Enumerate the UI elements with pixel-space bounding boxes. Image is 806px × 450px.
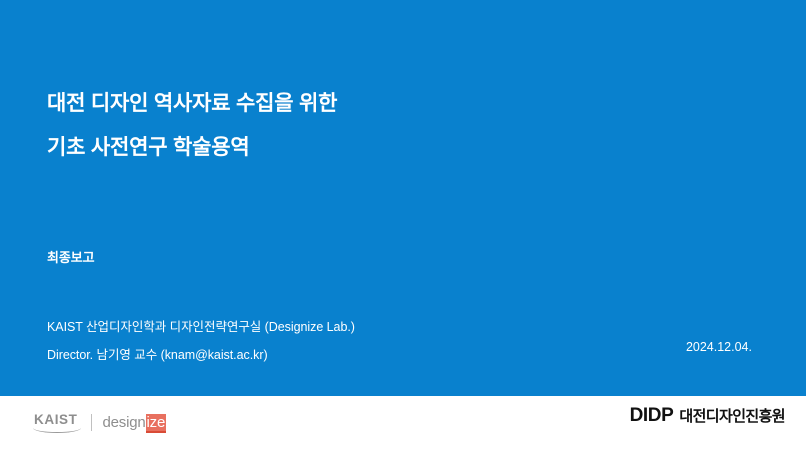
- logo-divider: [91, 414, 92, 431]
- affiliation-block: KAIST 산업디자인학과 디자인전략연구실 (Designize Lab.) …: [47, 313, 607, 369]
- page-title: 대전 디자인 역사자료 수집을 위한 기초 사전연구 학술용역: [47, 82, 687, 170]
- title-line-2: 기초 사전연구 학술용역: [47, 126, 687, 170]
- kaist-wordmark-text: KAIST: [34, 412, 78, 427]
- designize-logo: designize: [103, 414, 167, 431]
- kaist-logo: KAIST: [34, 411, 78, 433]
- footer-left-logos: KAIST designize: [34, 405, 166, 439]
- kaist-swoosh-icon: [33, 428, 81, 433]
- slide-footer: KAIST designize DIDP 대전디자인진흥원: [0, 396, 806, 450]
- didp-korean-name: 대전디자인진흥원: [679, 406, 785, 428]
- affiliation-director-line: Director. 남기영 교수 (knam@kaist.ac.kr): [47, 341, 607, 369]
- report-stage-label: 최종보고: [47, 249, 94, 267]
- presentation-slide: 대전 디자인 역사자료 수집을 위한 기초 사전연구 학술용역 최종보고 KAI…: [0, 0, 806, 450]
- footer-right-logo: DIDP 대전디자인진흥원: [630, 405, 785, 439]
- designize-highlight-text: ize: [146, 414, 167, 433]
- didp-wordmark: DIDP: [630, 405, 674, 427]
- title-line-1: 대전 디자인 역사자료 수집을 위한: [47, 82, 687, 126]
- slide-blue-background: 대전 디자인 역사자료 수집을 위한 기초 사전연구 학술용역 최종보고 KAI…: [0, 0, 806, 396]
- designize-prefix-text: design: [103, 414, 146, 431]
- affiliation-lab-line: KAIST 산업디자인학과 디자인전략연구실 (Designize Lab.): [47, 313, 607, 341]
- presentation-date: 2024.12.04.: [686, 338, 752, 356]
